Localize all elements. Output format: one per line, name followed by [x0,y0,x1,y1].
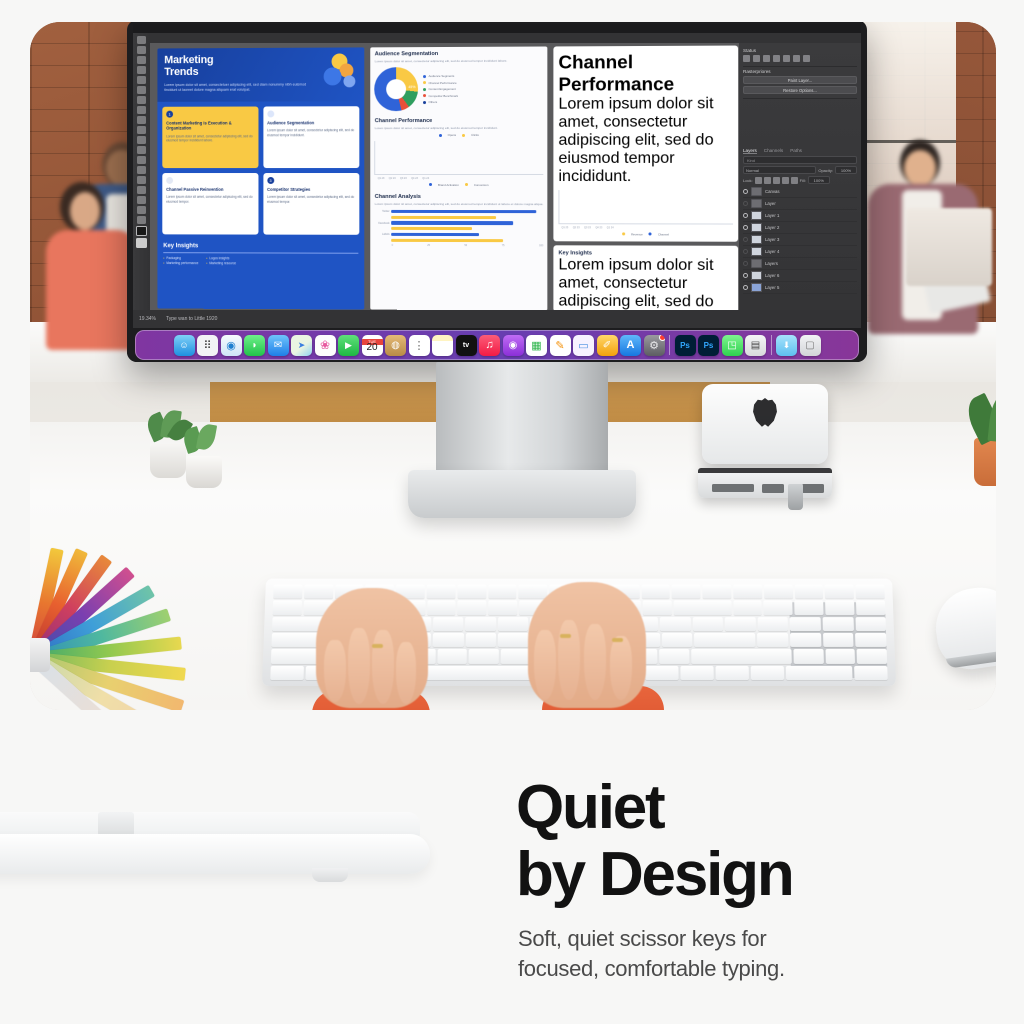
usb-port-b [802,484,824,493]
keyboard-body [0,834,430,874]
layer-thumbnail [751,211,762,220]
apple-tv-wordmark: tv [463,342,469,349]
opacity-label: Opacity: [818,168,833,173]
dock-icon-preview[interactable]: ◳ [722,335,743,356]
dock-icon-photoshop-2[interactable]: Ps [698,335,719,356]
dock-icon-finder[interactable]: ☺ [174,335,195,356]
calendar-day-number: 20 [366,345,377,351]
path-selection-tool-icon[interactable] [137,186,146,194]
pencil-icon: ✎ [555,339,564,352]
address-book-icon: ◍ [391,340,400,351]
dock-icon-podcasts[interactable]: ◉ [503,335,524,356]
legend-label: Clicks [471,133,479,137]
layer-row[interactable]: Layers [743,258,857,270]
align-middle-icon[interactable] [793,55,800,62]
fan-binding-pin [30,638,50,672]
hbar-axis: 0 25 50 75 100 [375,244,544,247]
hero-key-insights: Key Insights Packaging Marketing perform… [157,239,364,274]
envelope-icon: ✉ [274,340,282,351]
layer-thumbnail [751,271,762,280]
healing-brush-tool-icon[interactable] [137,96,146,104]
layer-name: Layer 3 [765,237,779,242]
axis-tick: Q1 24 [607,226,614,229]
blend-mode-select[interactable]: Normal [743,166,816,174]
layer-thumbnail [751,283,762,292]
hero-key-insights-title: Key Insights [163,243,359,249]
clone-stamp-tool-icon[interactable] [137,116,146,124]
background-color-swatch[interactable] [136,238,147,248]
dock-icon-contacts[interactable]: ◍ [385,335,406,356]
grouped-bar-chart [558,190,733,224]
axis-tick: Q1 23 [378,177,385,180]
keyboard-nub [98,812,134,836]
card-title: Content Marketing Is Execution & Organiz… [166,120,254,131]
sd-card-slot [712,484,754,492]
display-screen: MarketingTrends Lorem ipsum dolor sit am… [133,24,861,328]
studio-display-monitor: MarketingTrends Lorem ipsum dolor sit am… [127,22,867,362]
axis-tick: Q3 23 [400,177,407,180]
legend-label: Channel [658,232,669,236]
layer-name: Layer 4 [765,249,779,254]
legend-label: Brand Activation [438,183,459,187]
zoom-tool-icon[interactable] [137,216,146,224]
card-body: Lorem ipsum dolor sit amet, consectetur … [166,134,254,143]
card-body: Lorem ipsum dolor sit amet, consectetur … [267,195,356,204]
photoshop-tool-palette[interactable] [133,33,150,310]
blur-tool-icon[interactable] [137,146,146,154]
card-icon [166,177,173,184]
rasterize-options-section: Rasterpriores Paint Layer... Restore Opt… [743,67,857,99]
layer-row[interactable]: Layer 6 [743,270,857,282]
monitor-stand-neck [436,362,608,474]
dock-icon-music[interactable]: ♫ [479,335,500,356]
folder-icon [751,187,762,196]
dock-icon-notes[interactable] [432,335,453,356]
music-note-icon: ♫ [485,339,493,351]
presentation-icon: ▭ [578,339,588,352]
hero-card[interactable]: 3 Competitor Strategies Lorem ipsum dolo… [263,173,360,235]
bar-label: Twitter [375,210,390,213]
dock-icon-photos[interactable]: ❀ [315,335,336,356]
foreground-color-swatch[interactable] [136,226,147,236]
layer-filter-input[interactable]: Kind [743,156,857,164]
layer-visibility-icon[interactable] [743,213,748,218]
legend-label: Others [428,100,437,104]
align-bottom-icon[interactable] [803,55,810,62]
magic-wand-tool-icon[interactable] [137,66,146,74]
photoshop-icon: Ps [704,341,714,350]
app-store-icon: A [627,339,635,351]
axis-tick: 50 [464,244,467,247]
shape-tool-icon[interactable] [137,196,146,204]
align-right-icon[interactable] [763,55,770,62]
hand-left [316,588,428,708]
monitor-stand-base [408,470,636,518]
checklist-icon: ⋮ [414,339,425,352]
map-pin-icon: ➤ [298,340,306,351]
card-badge: 3 [267,177,274,184]
panel-section-title: Status [743,48,857,53]
axis-tick: 25 [427,244,430,247]
card-body: Lorem ipsum dolor sit amet, consectetur … [267,129,356,138]
dock-icon-safari[interactable]: ◉ [221,335,242,356]
block-sub: Lorem ipsum dolor sit amet, consectetur … [558,256,733,310]
axis-tick: 75 [502,244,505,247]
dock-icon-keynote[interactable]: ▭ [573,335,594,356]
preview-icon: ◳ [727,340,736,351]
layer-name: Layer 5 [765,285,779,290]
layer-visibility-icon[interactable] [743,201,748,206]
hero-card[interactable]: 1 Content Marketing Is Execution & Organ… [162,107,258,169]
axis-tick: Q3 23 [584,226,591,229]
layer-name: Layer 2 [765,225,779,230]
block-sub: Lorem ipsum dolor sit amet, consectetur … [558,95,733,186]
axis-tick: Q1 24 [422,177,429,180]
donut-chart: 45% [375,67,419,111]
screenshot-icon: ▤ [751,340,760,351]
photoshop-canvas[interactable]: MarketingTrends Lorem ipsum dolor sit am… [150,43,739,310]
folder-icon: ⬇ [783,340,791,351]
brush-tool-icon[interactable] [137,106,146,114]
dock-icon-screenshot[interactable]: ▤ [745,335,766,356]
dock-icon-facetime[interactable]: ▶ [338,335,359,356]
dock-icon-downloads-folder[interactable]: ⬇ [776,335,797,356]
layer-row[interactable]: Layer 3 [743,234,857,246]
bar-label: Facebook [375,221,390,224]
donut-legend: Audience Segments Channel Performance Co… [423,74,458,104]
dock-icon-trash[interactable]: ▢ [800,335,821,356]
layer-thumbnail [751,235,762,244]
lasso-tool-icon[interactable] [137,56,146,64]
dock-icon-freeform[interactable]: ✐ [597,335,618,356]
tab-channels[interactable]: Channels [764,148,783,154]
gradient-tool-icon[interactable] [137,136,146,144]
legend-label: Conversion [474,183,489,187]
layer-name: Layer [765,201,776,206]
bar-chart-axis: Q1 23 Q2 23 Q3 23 Q4 23 Q1 24 [558,226,733,229]
hand-right [528,582,646,708]
donut-center-label: 45% [408,85,415,89]
usb-flash-drive [788,484,803,510]
align-top-icon[interactable] [783,55,790,62]
infographic-artboard: MarketingTrends Lorem ipsum dolor sit am… [154,43,739,310]
subcopy-line-1: Soft, quiet scissor keys for [518,926,766,951]
dodge-tool-icon[interactable] [137,156,146,164]
person-seated-left [46,182,138,352]
layer-visibility-icon[interactable] [743,273,748,278]
layer-row[interactable]: Layer 2 [743,222,857,234]
macos-dock[interactable]: ☺ ⠿ ◉ ◗ ✉ ➤ ❀ ▶ TUE20 ◍ ⋮ tv ♫ ◉ ▦ ✎ ▭ ✐… [135,330,859,360]
axis-tick: Q1 23 [561,226,568,229]
legend-label: Content Engagement [428,87,455,91]
layer-visibility-icon[interactable] [743,261,748,266]
block-title: Channel Performance [558,51,733,96]
move-tool-icon[interactable] [137,36,146,44]
succulent-plant-medium [180,424,228,488]
block-sub: Lorem ipsum dolor sit amet, consectetur … [375,126,544,131]
hero-block: MarketingTrends Lorem ipsum dolor sit am… [157,47,364,101]
photoshop-status-bar: 19.34% Type wan to Little 1920 [133,310,861,328]
block-title: Audience Segmentation [375,51,544,58]
layer-name: Layer 6 [765,273,779,278]
video-camera-icon: ▶ [345,340,352,351]
dock-icon-mail[interactable]: ✉ [268,335,289,356]
pantone-color-fan [30,542,236,702]
mac-mini [702,384,828,464]
list-item: Marketing resource [206,261,236,266]
folder-icon [751,259,762,268]
layer-name: Canvas [765,189,780,194]
paint-layer-button[interactable]: Paint Layer... [743,76,857,84]
card-title: Competitor Strategies [267,187,356,192]
keyboard-foot [312,868,348,882]
dock-icon-system-settings[interactable]: ⚙ [644,335,665,356]
lock-artboard-icon[interactable] [782,177,789,184]
block-title: Channel Performance [375,118,544,124]
photoshop-right-panels[interactable]: Status Rasterpriores Paint Layer... Res [739,43,861,310]
legend-label: Competitor Benchmark [428,94,458,98]
page-headline: Quiet by Design [516,774,986,908]
dock-icon-pages[interactable]: ✎ [550,335,571,356]
card-title: Channel Passive Reinvention [166,187,254,192]
gear-icon: ⚙ [649,339,659,352]
block-sub: Lorem ipsum dolor sit amet, consectetur … [375,202,544,206]
layer-name: Layer 1 [765,213,779,218]
artboard-column-right: Channel Performance Lorem ipsum dolor si… [553,46,738,310]
flower-icon: ❀ [320,338,330,352]
photoshop-menubar[interactable] [133,24,861,33]
restore-options-button[interactable]: Restore Options... [743,86,857,94]
folder-icon [751,199,762,208]
pen-tool-icon[interactable] [137,166,146,174]
key-insights-table-block: Key Insights Lorem ipsum dolor sit amet,… [553,245,738,310]
zoom-level[interactable]: 19.34% [139,316,156,322]
tab-paths[interactable]: Paths [790,148,802,154]
axis-tick: 100 [539,244,543,247]
usb-port-a [762,484,784,493]
keyboard-side-profile [0,812,430,890]
crop-tool-icon[interactable] [137,76,146,84]
bar-chart-icon: ▦ [531,339,541,352]
list-item: Marketing performance [163,261,198,266]
bar-chart-axis: Q1 23 Q2 23 Q3 23 Q4 23 Q1 24 [375,177,544,180]
dock-icon-apple-tv[interactable]: tv [456,335,477,356]
hero-card[interactable]: Audience Segmentation Lorem ipsum dolor … [263,106,360,168]
axis-tick: Q4 23 [595,226,602,229]
lock-transparent-icon[interactable] [755,177,762,184]
block-title: Channel Analysis [375,194,544,200]
background-imac [906,208,992,286]
trash-icon: ▢ [805,340,814,351]
tab-layers[interactable]: Layers [743,148,757,154]
legend-label: Channel Performance [428,81,456,85]
audience-segmentation-block: Audience Segmentation Lorem ipsum dolor … [375,51,544,112]
grouped-bar-chart [375,141,544,175]
artboard-column-hero: MarketingTrends Lorem ipsum dolor sit am… [157,47,364,309]
dock-icon-launchpad[interactable]: ⠿ [197,335,218,356]
hero-card[interactable]: Channel Passive Reinvention Lorem ipsum … [162,173,258,235]
block-sub: Lorem ipsum dolor sit amet, consectetur … [375,59,544,64]
type-tool-icon[interactable] [137,176,146,184]
eyedropper-tool-icon[interactable] [137,86,146,94]
finder-icon: ☺ [179,340,188,350]
layer-visibility-icon[interactable] [743,189,748,194]
axis-tick: Q2 23 [573,226,580,229]
layer-row[interactable]: Canvas [743,186,857,198]
launchpad-icon: ⠿ [203,339,211,352]
opacity-value[interactable]: 100% [835,166,857,174]
card-icon [267,110,274,117]
layer-name: Layers [765,261,778,266]
legend-label: Opens [448,133,457,137]
lock-all-icon[interactable] [791,177,798,184]
photoshop-icon: Ps [680,341,690,350]
layer-visibility-icon[interactable] [743,225,748,230]
lock-label: Lock: [743,178,753,183]
photoshop-options-bar[interactable] [150,33,861,43]
distribute-icon[interactable] [773,55,780,62]
hero-body: Lorem ipsum dolor sit amet, consectetuer… [164,82,315,92]
eraser-tool-icon[interactable] [137,126,146,134]
dock-separator [771,335,772,355]
dock-icon-messages[interactable]: ◗ [244,335,265,356]
align-left-icon[interactable] [743,55,750,62]
panel-section-title: Rasterpriores [743,69,857,74]
channel-performance-right-block: Channel Performance Lorem ipsum dolor si… [553,46,738,242]
fill-label: Fill: [800,178,806,183]
legend-label: Revenue [631,232,643,236]
artboard-column-middle: Audience Segmentation Lorem ipsum dolor … [371,46,548,310]
hero-insights-list-left: Packaging Marketing performance [163,256,198,266]
layers-panel-tabs[interactable]: Layers Channels Paths [743,148,857,154]
layer-visibility-icon[interactable] [743,237,748,242]
hero-card-grid: 1 Content Marketing Is Execution & Organ… [157,101,364,240]
marquee-tool-icon[interactable] [137,46,146,54]
layer-row[interactable]: Layer 5 [743,282,857,294]
page-subcopy: Soft, quiet scissor keys for focused, co… [518,924,948,984]
dock-icon-numbers[interactable]: ▦ [526,335,547,356]
podcast-icon: ◉ [509,340,518,351]
potted-plant-right [968,394,996,486]
dock-icon-app-store[interactable]: A [620,335,641,356]
axis-tick: Q4 23 [411,177,418,180]
hero-illustration [318,51,360,89]
dock-separator [669,335,670,355]
speech-bubble-icon: ◗ [251,340,257,351]
horizontal-bar-chart: Twitter Facebook Labels [375,210,544,242]
properties-status-section: Status [743,46,857,67]
notification-badge [659,335,665,341]
layer-row[interactable]: Layer 4 [743,246,857,258]
lock-image-icon[interactable] [764,177,771,184]
dock-icon-reminders[interactable]: ⋮ [409,335,430,356]
layer-thumbnail [751,247,762,256]
channel-performance-mid-block: Channel Performance Lorem ipsum dolor si… [375,118,544,187]
axis-tick: 0 [392,244,393,247]
axis-tick: Q2 23 [389,177,396,180]
layer-thumbnail [751,223,762,232]
document-info: Type wan to Little 1920 [166,316,217,322]
card-title: Audience Segmentation [267,120,356,126]
lock-position-icon[interactable] [773,177,780,184]
dock-icon-maps[interactable]: ➤ [291,335,312,356]
card-badge: 1 [166,111,173,118]
hand-tool-icon[interactable] [137,206,146,214]
legend-label: Audience Segments [428,74,454,78]
layer-row[interactable]: Layer 1 [743,210,857,222]
subcopy-line-2: focused, comfortable typing. [518,956,785,981]
fill-value[interactable]: 100% [808,176,830,184]
card-body: Lorem ipsum dolor sit amet, consectetur … [166,195,254,204]
usb-hub-dock [698,468,832,498]
headline-line-1: Quiet [516,773,663,842]
hero-insights-list-right: Logos insights Marketing resource [206,256,236,266]
freeform-pen-icon: ✐ [603,340,611,351]
dock-icon-calendar[interactable]: TUE20 [362,335,383,356]
align-center-icon[interactable] [753,55,760,62]
promo-text-section: Quiet by Design Soft, quiet scissor keys… [0,712,1024,1024]
compass-icon: ◉ [226,339,236,352]
layer-visibility-icon[interactable] [743,285,748,290]
dock-icon-photoshop-1[interactable]: Ps [675,335,696,356]
bar-label: Labels [375,233,390,236]
layer-row[interactable]: Layer [743,198,857,210]
product-photo-panel: MarketingTrends Lorem ipsum dolor sit am… [30,22,996,710]
headline-line-2: by Design [516,840,793,909]
layer-visibility-icon[interactable] [743,249,748,254]
channel-analysis-block: Channel Analysis Lorem ipsum dolor sit a… [375,194,544,248]
